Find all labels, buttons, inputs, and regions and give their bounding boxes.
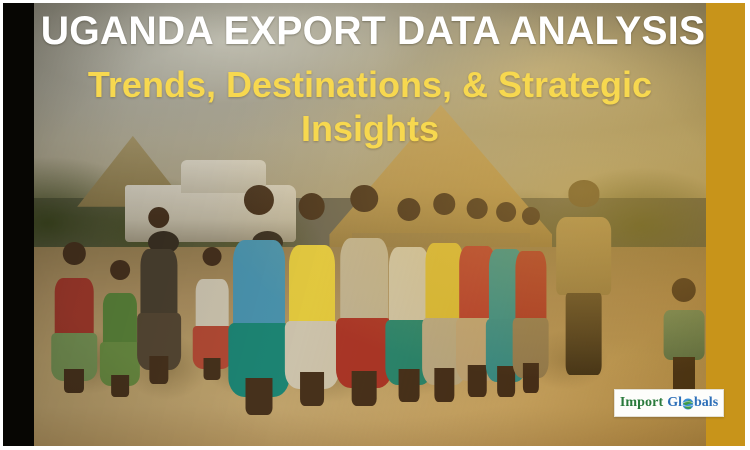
headline-block: UGANDA EXPORT DATA ANALYSIS Trends, Dest… [34,7,706,151]
left-black-bar [3,3,34,446]
globe-icon [682,398,694,410]
slide-canvas: UGANDA EXPORT DATA ANALYSIS Trends, Dest… [3,3,745,446]
page-title: UGANDA EXPORT DATA ANALYSIS [41,7,700,55]
brand-logo-word-import: Import [620,396,663,410]
brand-logo-word-globals-prefix: Gl [667,396,682,410]
presentation-slide: UGANDA EXPORT DATA ANALYSIS Trends, Dest… [0,0,750,450]
page-subtitle: Trends, Destinations, & Strategic Insigh… [40,63,700,151]
brand-logo[interactable]: Import Gl bals [614,389,724,417]
brand-logo-text: Import Gl bals [620,396,718,410]
right-gold-bar [706,3,745,446]
brand-logo-word-globals-suffix: bals [694,396,718,410]
